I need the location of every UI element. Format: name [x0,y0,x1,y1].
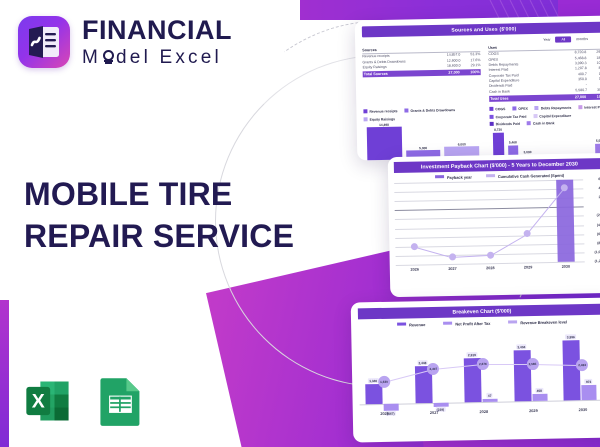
breakeven-point: 2,585 [526,358,538,370]
headline-line-2: REPAIR SERVICE [24,215,294,257]
poster-canvas: FINANCIAL M del Excel MOBILE TIRE REPAIR… [0,0,600,447]
cumulative-cash-line [452,255,490,258]
bar-label: 2,919 [467,352,478,357]
breakeven-point: 2,407 [427,363,439,375]
legend-item: Revenue Breakeven level [508,319,567,325]
bar-group: 2,91947 [463,402,501,403]
net-profit-bar [582,385,597,400]
net-profit-bar [532,394,547,401]
legend-item: Revenue receipts [363,109,397,114]
x-axis-tick: 2026 [410,268,419,272]
uses-total-row: Total Uses 27,000 100% [489,94,600,102]
legend-item: Payback year [435,175,472,181]
legend-item: Dividends Paid [490,121,520,126]
legend-item: COGS [489,107,505,112]
breakeven-card[interactable]: Breakeven Chart ($'000) RevenueNet Profi… [351,297,600,442]
payback-year-band [556,180,575,262]
filter-value[interactable]: All [555,36,571,42]
legend-item: Equity Raisings [364,116,396,121]
legend-item: Net Profit After Tax [443,321,490,327]
breakeven-plot: 1,340(467)2,448(239)2,919473,4044583,996… [358,326,600,419]
bar-label: 458 [535,388,543,393]
microsoft-excel-icon: X [22,375,74,427]
svg-text:X: X [32,391,45,413]
x-axis-tick: 2029 [524,265,533,269]
x-axis-tick: 2028 [479,409,488,414]
google-sheets-icon [96,375,146,427]
sources-column: Sources Revenue receipts14,857.053.3%Gra… [362,46,481,104]
bar-label: 3,404 [516,344,527,349]
lightbulb-icon [102,50,115,65]
uses-total-label: Total Uses [490,96,560,101]
breakeven-point: 2,676 [477,358,489,370]
uses-total-value: 27,000 [560,95,586,99]
legend-item: OPEX [512,106,528,111]
legend-item: Revenue [397,322,425,328]
y-axis-tick: (1,000) [594,250,600,254]
breakeven-point: 2,433 [576,359,588,371]
sources-rows: Revenue receipts14,857.053.3%Grants & De… [362,52,480,70]
sources-bar-chart: 14,8985,0006,000 [364,121,483,160]
y-axis-tick: (1,200) [595,259,600,263]
bar-label: 47 [487,393,493,398]
legend-item: Cumulative Cash Generated (Spent) [486,173,564,180]
data-point [449,254,456,261]
uses-rows: COGS8,720.829.1%OPEX5,468.818.6%Debts Re… [488,49,600,94]
legend-item: Grants & Debts Drawdowns [404,108,455,113]
background-left-edge [0,300,9,447]
filter-suffix: months [576,37,588,41]
bar-label: 973 [585,379,593,384]
net-profit-bar [384,404,399,411]
financial-model-logo-icon [18,16,70,68]
page-title: MOBILE TIRE REPAIR SERVICE [24,173,294,257]
gridline [396,261,585,265]
data-point [487,251,494,258]
cumulative-cash-line [414,246,452,258]
legend-item: Capital Expenditure [533,113,571,118]
sources-total-label: Total Sources [364,71,434,76]
data-point [561,184,568,191]
payback-plot: 600400200-(200)(400)(600)(800)(1,000)(1,… [394,179,585,265]
sources-total-row: Total Sources 27,000 100% [363,69,481,77]
breakeven-point: 1,630 [378,376,390,388]
bar-label: 3,996 [565,334,576,339]
x-axis-tick: 2030 [562,265,571,269]
sources-and-uses-card[interactable]: Sources and Uses ($'000) Year All months… [355,16,600,161]
brand-subtitle: M del Excel [82,48,232,67]
legend-item: Corporate Tax Paid [490,114,527,119]
bar-group: 1,340(467) [364,404,402,405]
bar-group: 3,404458 [512,401,550,402]
breakeven-line [483,364,533,365]
uses-chart-legend: COGSOPEXDebts RepaymentsInterest PaidCor… [489,105,600,127]
headline-line-1: MOBILE TIRE [24,173,294,215]
uses-total-pct: 100% [586,95,600,99]
brand-subtitle-post: del Excel [116,48,222,67]
data-point [524,230,531,237]
sources-total-value: 27,000 [434,71,460,75]
x-axis-tick: 2027 [448,267,457,271]
sources-total-pct: 100% [460,70,480,74]
x-axis-tick: 2028 [486,266,495,270]
payback-title: Investment Payback Chart ($'000) - 5 Yea… [394,158,600,173]
x-axis-tick: 2026 [380,411,389,416]
bar-label: 1,340 [368,378,379,383]
y-axis-tick: (200) [597,213,600,217]
app-format-icons: X [22,375,146,427]
bar-group: 3,996973 [562,400,600,401]
uses-column: Uses COGS8,720.829.1%OPEX5,468.818.6%Deb… [488,44,600,102]
x-axis-tick: 2029 [529,408,538,413]
x-axis-tick: 2030 [579,407,588,412]
breakeven-line [532,364,582,366]
sources-chart-legend: Revenue receiptsGrants & Debts Drawdowns… [363,107,481,121]
legend-item: Debts Repayments [535,105,572,110]
x-axis-tick: 2027 [430,410,439,415]
filter-label: Year [543,38,550,42]
investment-payback-card[interactable]: Investment Payback Chart ($'000) - 5 Yea… [388,153,600,297]
brand-logo: FINANCIAL M del Excel [18,16,232,68]
legend-item: Cash in Bank [527,121,555,126]
breakeven-title: Breakeven Chart ($'000) [358,304,600,320]
brand-title: FINANCIAL [82,17,232,44]
bar-group: 2,448(239) [413,403,451,404]
bar: 14,898 [367,127,402,161]
net-profit-bar [483,399,498,402]
legend-item: Interest Paid [578,105,600,110]
data-point [411,243,418,250]
bar-label: 2,448 [417,360,428,365]
brand-subtitle-pre: M [82,48,101,67]
sources-uses-title: Sources and Uses ($'000) [362,22,600,38]
